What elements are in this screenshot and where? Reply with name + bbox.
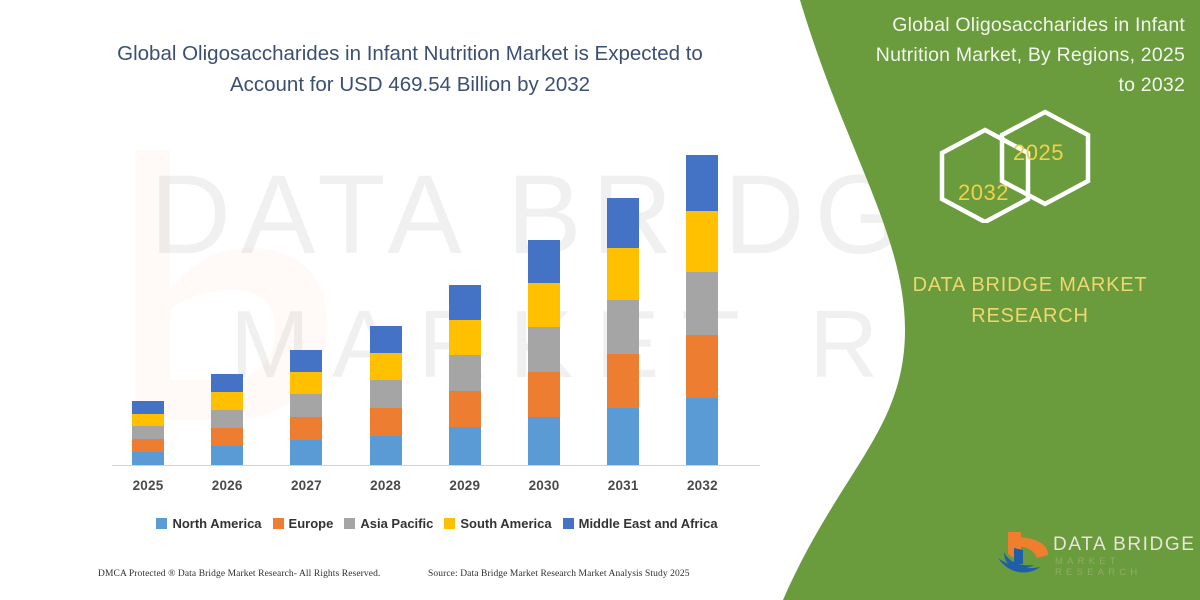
bar-segment-south-america — [607, 248, 639, 300]
bar-2026[interactable] — [211, 374, 243, 465]
bar-segment-asia-pacific — [528, 327, 560, 372]
legend-label: South America — [460, 516, 551, 531]
x-axis-label-2028: 2028 — [356, 478, 416, 493]
infographic-root: DATA BRIDGE MARKET RESEARCH Global Oligo… — [0, 0, 1200, 600]
bar-segment-middle-east-and-africa — [528, 240, 560, 283]
bar-2030[interactable] — [528, 240, 560, 465]
bar-segment-south-america — [211, 392, 243, 410]
legend-item-asia-pacific[interactable]: Asia Pacific — [344, 516, 433, 531]
x-axis-label-2026: 2026 — [197, 478, 257, 493]
bar-segment-north-america — [290, 440, 322, 465]
bar-2027[interactable] — [290, 350, 322, 465]
bar-segment-middle-east-and-africa — [132, 401, 164, 414]
legend-swatch-icon — [344, 518, 355, 529]
bar-segment-asia-pacific — [290, 394, 322, 417]
legend-item-middle-east-and-africa[interactable]: Middle East and Africa — [563, 516, 718, 531]
bar-2031[interactable] — [607, 198, 639, 465]
bar-segment-europe — [607, 354, 639, 408]
legend-item-south-america[interactable]: South America — [444, 516, 551, 531]
legend-label: Middle East and Africa — [579, 516, 718, 531]
logo-wordmark: DATA BRIDGE — [1053, 534, 1196, 556]
hexagon-2032-label: 2032 — [958, 180, 1009, 206]
logo-subtitle: MARKET RESEARCH — [1055, 556, 1200, 578]
bar-segment-europe — [370, 408, 402, 436]
legend-swatch-icon — [563, 518, 574, 529]
bar-segment-asia-pacific — [211, 410, 243, 428]
stacked-bar-chart: 20252026202720282029203020312032 — [0, 0, 790, 600]
x-axis-label-2025: 2025 — [118, 478, 178, 493]
bar-segment-asia-pacific — [449, 355, 481, 391]
bar-segment-north-america — [686, 398, 718, 465]
footer-source: Source: Data Bridge Market Research Mark… — [428, 569, 690, 579]
bar-segment-middle-east-and-africa — [211, 374, 243, 392]
bar-segment-europe — [528, 372, 560, 417]
bar-segment-south-america — [686, 211, 718, 272]
legend-swatch-icon — [156, 518, 167, 529]
bar-segment-south-america — [449, 320, 481, 355]
bar-2028[interactable] — [370, 326, 402, 465]
legend-label: Europe — [289, 516, 334, 531]
bar-segment-asia-pacific — [370, 380, 402, 408]
x-axis-line — [112, 465, 760, 466]
x-axis-label-2027: 2027 — [276, 478, 336, 493]
right-panel-title: Global Oligosaccharides in Infant Nutrit… — [855, 10, 1185, 100]
legend-swatch-icon — [444, 518, 455, 529]
bar-segment-europe — [211, 428, 243, 446]
bar-segment-south-america — [290, 372, 322, 394]
bar-2025[interactable] — [132, 401, 164, 465]
footer-copyright: DMCA Protected ® Data Bridge Market Rese… — [98, 569, 380, 579]
legend-item-europe[interactable]: Europe — [273, 516, 334, 531]
bar-segment-middle-east-and-africa — [449, 285, 481, 320]
bar-segment-north-america — [211, 446, 243, 465]
x-axis-label-2030: 2030 — [514, 478, 574, 493]
bar-segment-north-america — [132, 452, 164, 465]
chart-legend: North AmericaEuropeAsia PacificSouth Ame… — [112, 513, 762, 533]
legend-swatch-icon — [273, 518, 284, 529]
legend-label: North America — [172, 516, 261, 531]
bar-segment-north-america — [607, 408, 639, 465]
x-axis-label-2031: 2031 — [593, 478, 653, 493]
bar-segment-south-america — [528, 283, 560, 327]
bar-segment-north-america — [370, 436, 402, 465]
legend-item-north-america[interactable]: North America — [156, 516, 261, 531]
x-axis-label-2032: 2032 — [672, 478, 732, 493]
bar-segment-south-america — [132, 414, 164, 426]
bar-segment-middle-east-and-africa — [607, 198, 639, 248]
bar-2029[interactable] — [449, 285, 481, 465]
bar-segment-europe — [132, 439, 164, 452]
hexagon-2025-label: 2025 — [1013, 140, 1064, 166]
bar-segment-south-america — [370, 353, 402, 380]
bar-segment-europe — [290, 417, 322, 440]
bar-segment-middle-east-and-africa — [290, 350, 322, 372]
bar-segment-asia-pacific — [132, 426, 164, 439]
bar-segment-europe — [686, 335, 718, 398]
bar-segment-middle-east-and-africa — [370, 326, 402, 353]
bar-segment-asia-pacific — [607, 300, 639, 354]
brand-name: DATA BRIDGE MARKET RESEARCH — [900, 270, 1160, 332]
bar-segment-north-america — [449, 427, 481, 465]
legend-label: Asia Pacific — [360, 516, 433, 531]
bar-segment-middle-east-and-africa — [686, 155, 718, 211]
bar-segment-north-america — [528, 417, 560, 465]
bar-segment-asia-pacific — [686, 272, 718, 335]
x-axis-label-2029: 2029 — [435, 478, 495, 493]
bar-segment-europe — [449, 391, 481, 427]
bar-2032[interactable] — [686, 155, 718, 465]
